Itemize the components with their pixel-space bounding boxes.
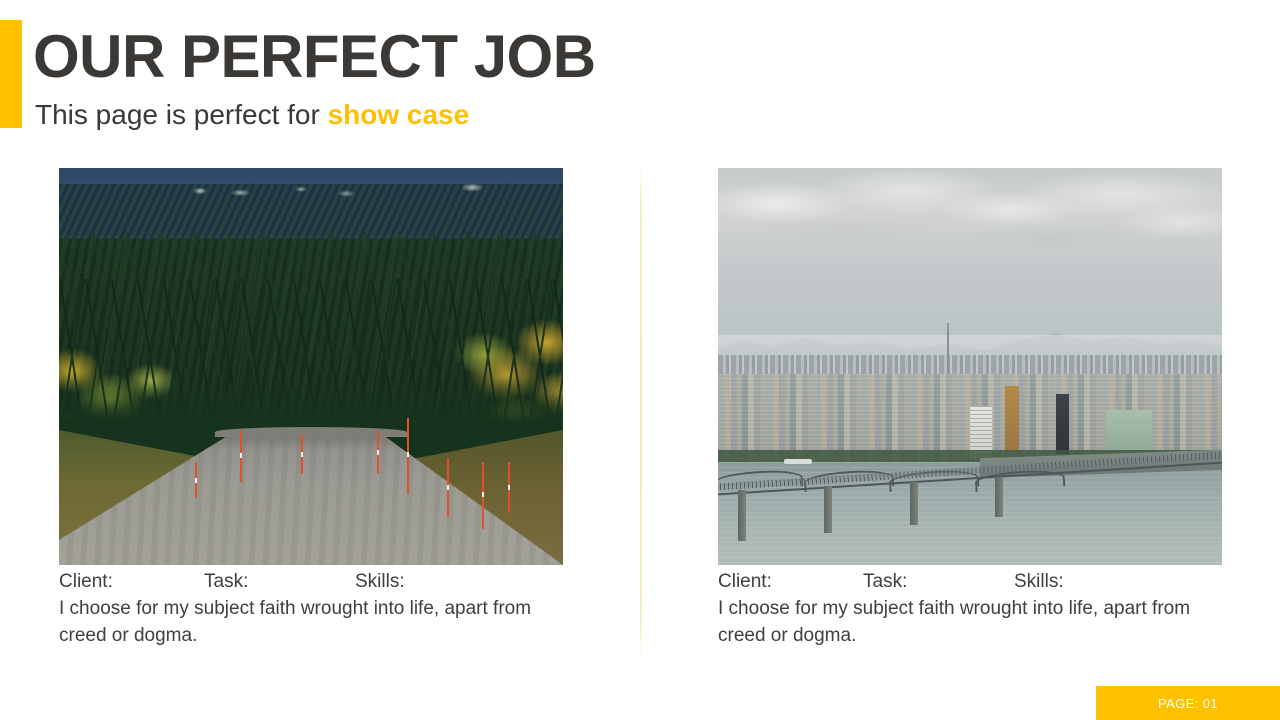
road-marker-pole — [407, 418, 409, 493]
content-column-left: Client: Task: Skills: I choose for my su… — [59, 168, 563, 649]
page-number-badge: PAGE: 01 — [1096, 686, 1280, 720]
caption-labels-left: Client: Task: Skills: — [59, 569, 563, 594]
label-client: Client: — [59, 569, 113, 594]
label-skills: Skills: — [1014, 569, 1064, 594]
page-subtitle-prefix: This page is perfect for — [35, 99, 328, 130]
bridge-pier — [910, 482, 918, 526]
bridge-pier — [995, 478, 1003, 518]
caption-body-left: I choose for my subject faith wrought in… — [59, 595, 574, 649]
page-subtitle-highlight: show case — [328, 99, 470, 130]
bridge-pier — [824, 486, 832, 534]
city-highrise-tan — [1005, 386, 1019, 450]
label-task: Task: — [204, 569, 248, 594]
road-marker-pole — [195, 462, 197, 498]
column-divider — [640, 165, 642, 660]
page-title: OUR PERFECT JOB — [33, 24, 596, 90]
label-skills: Skills: — [355, 569, 405, 594]
page-subtitle: This page is perfect for show case — [35, 98, 469, 132]
road-marker-pole — [482, 462, 484, 529]
road-marker-pole — [447, 458, 449, 518]
forest-road-photo — [59, 168, 563, 565]
caption-labels-right: Client: Task: Skills: — [718, 569, 1222, 594]
river-boat — [784, 459, 812, 464]
content-column-right: Client: Task: Skills: I choose for my su… — [718, 168, 1222, 649]
bridge-pier — [738, 490, 746, 542]
label-client: Client: — [718, 569, 772, 594]
road-marker-pole — [377, 430, 379, 474]
label-task: Task: — [863, 569, 907, 594]
city-highrise-dark — [1056, 394, 1069, 454]
road-marker-pole — [240, 430, 242, 482]
caption-body-right: I choose for my subject faith wrought in… — [718, 595, 1233, 649]
cityscape-river-photo — [718, 168, 1222, 565]
city-clouds — [718, 168, 1222, 327]
road-marker-pole — [301, 434, 303, 474]
title-accent-bar — [0, 20, 22, 128]
road-marker-pole — [508, 462, 510, 514]
city-green-building — [1106, 410, 1152, 454]
